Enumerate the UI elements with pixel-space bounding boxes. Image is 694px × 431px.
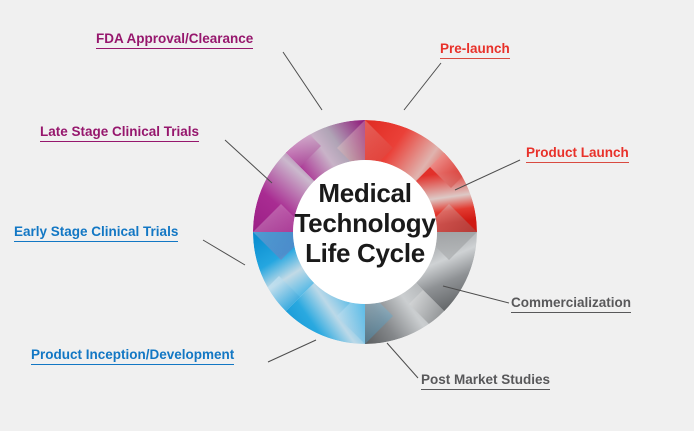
label-commercialization[interactable]: Commercialization bbox=[511, 295, 631, 315]
leader-product-inception-development bbox=[268, 340, 316, 362]
leader-early-stage-clinical-trials bbox=[203, 240, 245, 265]
label-underline bbox=[511, 312, 631, 313]
label-underline bbox=[14, 241, 178, 242]
leader-post-market-studies bbox=[387, 343, 418, 378]
label-late-stage-clinical-trials-text: Late Stage Clinical Trials bbox=[40, 124, 199, 139]
label-product-inception-development[interactable]: Product Inception/Development bbox=[31, 347, 234, 367]
label-product-launch-text: Product Launch bbox=[526, 145, 629, 160]
label-underline bbox=[96, 48, 253, 49]
wheel-hub bbox=[293, 160, 437, 304]
label-underline bbox=[31, 364, 234, 365]
label-product-launch[interactable]: Product Launch bbox=[526, 145, 629, 165]
label-early-stage-clinical-trials[interactable]: Early Stage Clinical Trials bbox=[14, 224, 178, 244]
label-pre-launch[interactable]: Pre-launch bbox=[440, 41, 510, 61]
label-underline bbox=[440, 58, 510, 59]
label-fda-approval-clearance[interactable]: FDA Approval/Clearance bbox=[96, 31, 253, 51]
leader-late-stage-clinical-trials bbox=[225, 140, 272, 183]
leader-pre-launch bbox=[404, 63, 441, 110]
label-pre-launch-text: Pre-launch bbox=[440, 41, 510, 56]
label-post-market-studies[interactable]: Post Market Studies bbox=[421, 372, 550, 392]
label-underline bbox=[40, 141, 199, 142]
label-underline bbox=[526, 162, 629, 163]
label-commercialization-text: Commercialization bbox=[511, 295, 631, 310]
label-late-stage-clinical-trials[interactable]: Late Stage Clinical Trials bbox=[40, 124, 199, 144]
label-fda-approval-clearance-text: FDA Approval/Clearance bbox=[96, 31, 253, 46]
label-product-inception-development-text: Product Inception/Development bbox=[31, 347, 234, 362]
label-early-stage-clinical-trials-text: Early Stage Clinical Trials bbox=[14, 224, 178, 239]
diagram-canvas: Medical Technology Life Cycle FDA Approv… bbox=[0, 0, 694, 431]
label-underline bbox=[421, 389, 550, 390]
leader-product-launch bbox=[455, 160, 520, 190]
leader-fda-approval-clearance bbox=[283, 52, 322, 110]
label-post-market-studies-text: Post Market Studies bbox=[421, 372, 550, 387]
